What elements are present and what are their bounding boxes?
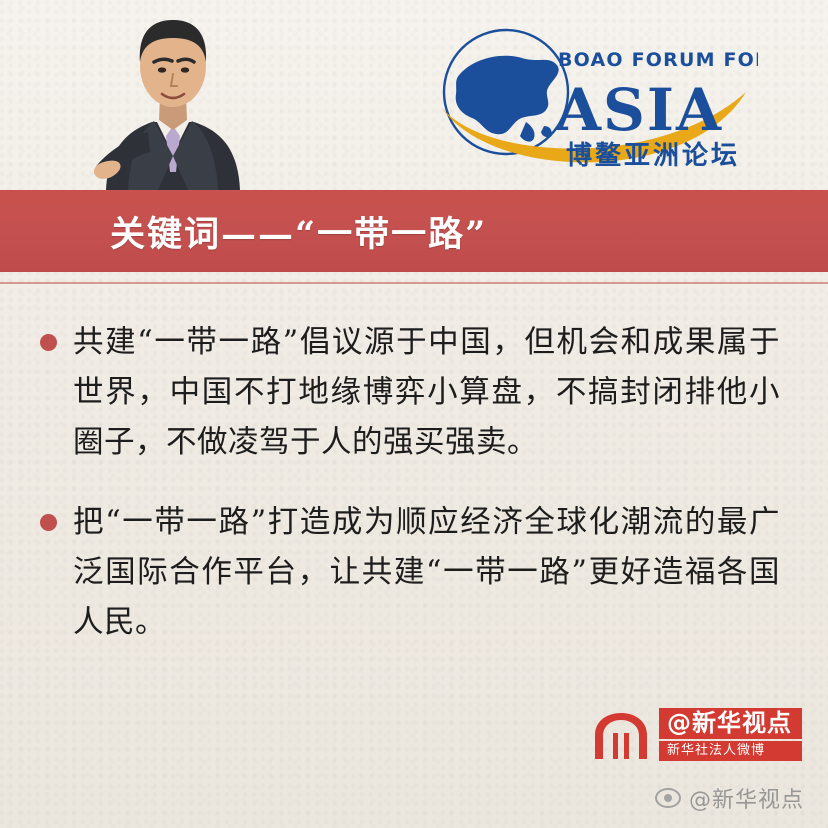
footer-watermark: @新华视点 新华社法人微博 @新华视点 [480,708,810,818]
poster-page: BOAO FORUM FOR ASIA 博鳌亚洲论坛 关键词——“一带一路” 共… [0,0,828,828]
header: BOAO FORUM FOR ASIA 博鳌亚洲论坛 [0,0,828,190]
brand-badges: @新华视点 新华社法人微博 [659,708,802,761]
bullet-dot-icon [40,334,57,351]
bullet-paragraph: 共建“一带一路”倡议源于中国，但机会和成果属于世界，中国不打地缘博弈小算盘，不搞… [73,318,780,468]
xinhua-arch-icon [589,709,653,761]
xinhua-brand-mark: @新华视点 新华社法人微博 [589,708,802,761]
list-item: 把“一带一路”打造成为顺应经济全球化潮流的最广泛国际合作平台，让共建“一带一路”… [34,498,780,648]
page-title: 关键词——“一带一路” [110,206,487,257]
content-area: 共建“一带一路”倡议源于中国，但机会和成果属于世界，中国不打地缘博弈小算盘，不搞… [0,284,828,648]
logo-line2: ASIA [555,76,723,144]
brand-secondary-label: 新华社法人微博 [659,741,802,761]
weibo-watermark: @新华视点 [655,782,804,814]
weibo-handle: @新华视点 [689,782,804,814]
divider-rule [0,282,828,284]
brand-primary-label: @新华视点 [659,708,802,739]
bullet-paragraph: 把“一带一路”打造成为顺应经济全球化潮流的最广泛国际合作平台，让共建“一带一路”… [73,498,780,648]
boao-forum-logo: BOAO FORUM FOR ASIA 博鳌亚洲论坛 [398,22,758,172]
logo-line1: BOAO FORUM FOR [558,49,758,71]
speaker-portrait [88,4,258,190]
title-band: 关键词——“一带一路” [0,190,828,272]
bullet-dot-icon [40,514,57,531]
list-item: 共建“一带一路”倡议源于中国，但机会和成果属于世界，中国不打地缘博弈小算盘，不搞… [34,318,780,468]
weibo-icon [655,785,681,811]
logo-line3: 博鳌亚洲论坛 [566,141,740,171]
